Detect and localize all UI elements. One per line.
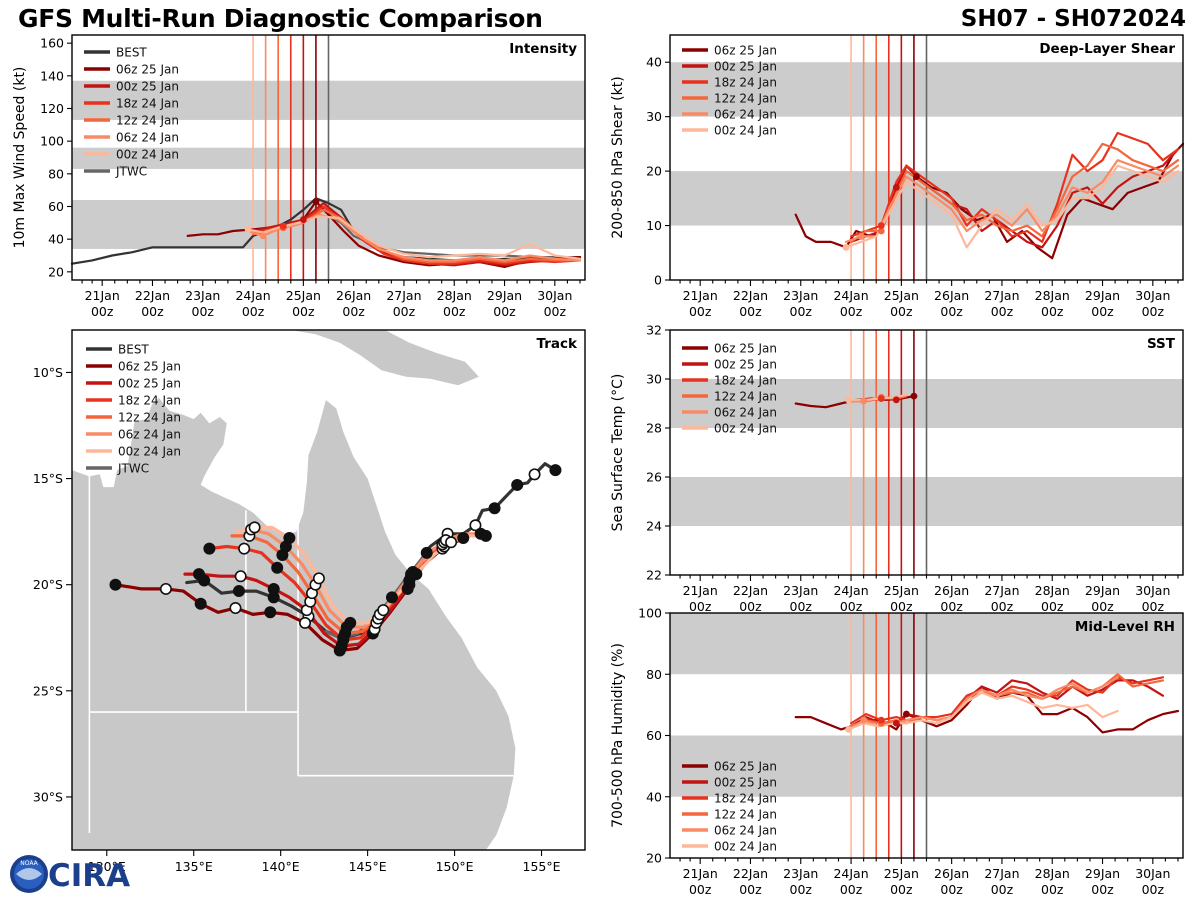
legend-label: 00z 24 Jan bbox=[714, 421, 777, 435]
panel-title: Intensity bbox=[509, 41, 577, 57]
x-tick-label: 27Jan bbox=[984, 866, 1019, 881]
y-tick-label: 10 bbox=[646, 218, 662, 233]
x-tick-sublabel: 00z bbox=[1142, 599, 1165, 614]
track-marker-filled bbox=[489, 503, 499, 513]
x-tick-label: 30Jan bbox=[1135, 583, 1170, 598]
x-tick-label: 21Jan bbox=[85, 288, 120, 303]
x-tick-label: 24Jan bbox=[235, 288, 270, 303]
y-axis-title: 200-850 hPa Shear (kt) bbox=[610, 76, 626, 238]
x-tick-sublabel: 00z bbox=[1142, 304, 1165, 319]
legend-label: 18z 24 Jan bbox=[714, 75, 777, 89]
legend-label: BEST bbox=[118, 342, 149, 356]
track-marker-open bbox=[378, 605, 388, 615]
x-tick-sublabel: 00z bbox=[1041, 599, 1064, 614]
init-marker bbox=[845, 396, 852, 403]
x-tick-label: 28Jan bbox=[1035, 288, 1070, 303]
x-tick-sublabel: 00z bbox=[1142, 882, 1165, 897]
x-tick-label: 27Jan bbox=[386, 288, 421, 303]
y-axis-title: 700-500 hPa Humidity (%) bbox=[610, 643, 626, 828]
track-marker-open bbox=[300, 618, 310, 628]
x-tick-sublabel: 00z bbox=[840, 599, 863, 614]
panel-rh: 2040608010021Jan00z22Jan00z23Jan00z24Jan… bbox=[610, 606, 1183, 898]
init-marker bbox=[860, 398, 867, 405]
track-marker-open bbox=[239, 543, 249, 553]
init-marker bbox=[893, 184, 900, 191]
lat-tick-label: 30°S bbox=[33, 789, 63, 804]
legend-label: BEST bbox=[116, 45, 147, 59]
legend-label: 18z 24 Jan bbox=[714, 791, 777, 805]
x-tick-label: 26Jan bbox=[934, 866, 969, 881]
x-tick-label: 21Jan bbox=[683, 583, 718, 598]
track-marker-open bbox=[529, 469, 539, 479]
x-tick-label: 25Jan bbox=[286, 288, 321, 303]
x-tick-label: 30Jan bbox=[1135, 288, 1170, 303]
legend-label: 12z 24 Jan bbox=[118, 410, 181, 424]
x-tick-label: 28Jan bbox=[1035, 866, 1070, 881]
y-tick-label: 20 bbox=[646, 164, 662, 179]
legend-label: 06z 24 Jan bbox=[714, 107, 777, 121]
init-marker bbox=[911, 393, 918, 400]
y-axis-title: 10m Max Wind Speed (kt) bbox=[12, 67, 28, 249]
x-tick-sublabel: 00z bbox=[1041, 882, 1064, 897]
x-tick-sublabel: 00z bbox=[739, 304, 762, 319]
panel-title: SST bbox=[1147, 336, 1176, 352]
legend-label: 18z 24 Jan bbox=[118, 393, 181, 407]
panel-track: 10°S15°S20°S25°S30°S130°E135°E140°E145°E… bbox=[33, 330, 585, 900]
lat-tick-label: 10°S bbox=[33, 365, 63, 380]
x-tick-label: 21Jan bbox=[683, 866, 718, 881]
y-tick-label: 30 bbox=[646, 109, 662, 124]
x-tick-sublabel: 00z bbox=[790, 304, 813, 319]
init-marker bbox=[903, 711, 910, 718]
legend-label: 00z 25 Jan bbox=[118, 376, 181, 390]
x-tick-sublabel: 00z bbox=[242, 304, 265, 319]
init-marker bbox=[245, 226, 252, 233]
x-tick-label: 30Jan bbox=[1135, 866, 1170, 881]
legend-label: 18z 24 Jan bbox=[116, 96, 179, 110]
track-marker-filled bbox=[269, 584, 279, 594]
x-tick-sublabel: 00z bbox=[1091, 882, 1114, 897]
x-tick-sublabel: 00z bbox=[840, 304, 863, 319]
init-marker bbox=[858, 233, 865, 240]
track-marker-filled bbox=[265, 607, 275, 617]
legend-label: 00z 25 Jan bbox=[714, 775, 777, 789]
lon-tick-label: 135°E bbox=[175, 859, 213, 874]
x-tick-label: 23Jan bbox=[783, 583, 818, 598]
x-tick-label: 24Jan bbox=[833, 583, 868, 598]
y-tick-label: 60 bbox=[48, 199, 64, 214]
x-tick-label: 25Jan bbox=[884, 866, 919, 881]
track-marker-filled bbox=[512, 480, 522, 490]
x-tick-sublabel: 00z bbox=[1091, 304, 1114, 319]
x-tick-label: 27Jan bbox=[984, 583, 1019, 598]
lat-tick-label: 25°S bbox=[33, 683, 63, 698]
x-tick-label: 22Jan bbox=[733, 583, 768, 598]
x-tick-label: 22Jan bbox=[733, 866, 768, 881]
init-marker bbox=[260, 233, 267, 240]
x-tick-label: 29Jan bbox=[1085, 288, 1120, 303]
panel-shear: 01020304021Jan00z22Jan00z23Jan00z24Jan00… bbox=[610, 35, 1183, 319]
legend-label: 12z 24 Jan bbox=[116, 113, 179, 127]
y-tick-label: 22 bbox=[646, 568, 662, 583]
init-marker bbox=[300, 216, 307, 223]
x-tick-label: 29Jan bbox=[1085, 583, 1120, 598]
y-tick-label: 40 bbox=[48, 232, 64, 247]
x-tick-sublabel: 00z bbox=[544, 304, 567, 319]
track-marker-filled bbox=[458, 533, 468, 543]
x-tick-label: 23Jan bbox=[783, 866, 818, 881]
x-tick-label: 26Jan bbox=[336, 288, 371, 303]
x-tick-sublabel: 00z bbox=[790, 599, 813, 614]
panel-title: Deep-Layer Shear bbox=[1039, 41, 1175, 57]
y-tick-label: 30 bbox=[646, 372, 662, 387]
x-tick-sublabel: 00z bbox=[940, 882, 963, 897]
x-tick-sublabel: 00z bbox=[940, 304, 963, 319]
legend-label: 06z 25 Jan bbox=[118, 359, 181, 373]
x-tick-sublabel: 00z bbox=[1091, 599, 1114, 614]
panel-title: Mid-Level RH bbox=[1075, 619, 1175, 635]
x-tick-sublabel: 00z bbox=[739, 882, 762, 897]
init-marker bbox=[878, 717, 885, 724]
y-tick-label: 40 bbox=[646, 789, 662, 804]
y-tick-label: 20 bbox=[646, 851, 662, 866]
track-marker-open bbox=[235, 571, 245, 581]
x-tick-sublabel: 00z bbox=[689, 599, 712, 614]
x-tick-sublabel: 00z bbox=[790, 882, 813, 897]
init-marker bbox=[913, 173, 920, 180]
legend-label: 18z 24 Jan bbox=[714, 373, 777, 387]
track-marker-filled bbox=[195, 599, 205, 609]
track-marker-filled bbox=[284, 533, 294, 543]
diagnostic-figure: 2040608010012014016021Jan00z22Jan00z23Ja… bbox=[0, 0, 1200, 900]
x-tick-sublabel: 00z bbox=[91, 304, 114, 319]
init-marker bbox=[878, 395, 885, 402]
x-tick-sublabel: 00z bbox=[840, 882, 863, 897]
x-tick-sublabel: 00z bbox=[689, 882, 712, 897]
track-marker-filled bbox=[481, 531, 491, 541]
x-tick-label: 23Jan bbox=[783, 288, 818, 303]
x-tick-sublabel: 00z bbox=[739, 599, 762, 614]
x-tick-sublabel: 00z bbox=[393, 304, 416, 319]
legend-label: 06z 25 Jan bbox=[714, 43, 777, 57]
track-marker-filled bbox=[194, 569, 204, 579]
y-tick-label: 20 bbox=[48, 264, 64, 279]
panel-sst: 22242628303221Jan00z22Jan00z23Jan00z24Ja… bbox=[610, 323, 1183, 615]
x-tick-label: 24Jan bbox=[833, 866, 868, 881]
track-marker-filled bbox=[204, 543, 214, 553]
lat-tick-label: 15°S bbox=[33, 471, 63, 486]
x-tick-label: 29Jan bbox=[1085, 866, 1120, 881]
x-tick-sublabel: 00z bbox=[292, 304, 315, 319]
svg-text:NOAA: NOAA bbox=[20, 860, 38, 867]
x-tick-sublabel: 00z bbox=[141, 304, 164, 319]
legend-label: 06z 24 Jan bbox=[714, 823, 777, 837]
x-tick-label: 27Jan bbox=[984, 288, 1019, 303]
init-marker bbox=[313, 198, 320, 205]
lon-tick-label: 140°E bbox=[262, 859, 300, 874]
x-tick-sublabel: 00z bbox=[890, 599, 913, 614]
track-marker-filled bbox=[234, 586, 244, 596]
legend-label: 12z 24 Jan bbox=[714, 389, 777, 403]
legend-label: 00z 24 Jan bbox=[116, 147, 179, 161]
legend-label: 00z 24 Jan bbox=[714, 123, 777, 137]
legend-label: 12z 24 Jan bbox=[714, 807, 777, 821]
x-tick-label: 22Jan bbox=[733, 288, 768, 303]
y-tick-label: 120 bbox=[40, 101, 64, 116]
cira-logo: NOAA CIRA bbox=[8, 850, 158, 896]
track-marker-open bbox=[161, 584, 171, 594]
track-marker-open bbox=[446, 537, 456, 547]
legend-label: 06z 25 Jan bbox=[116, 62, 179, 76]
x-tick-sublabel: 00z bbox=[991, 599, 1014, 614]
lon-tick-label: 145°E bbox=[349, 859, 387, 874]
init-marker bbox=[860, 717, 867, 724]
x-tick-label: 24Jan bbox=[833, 288, 868, 303]
x-tick-label: 26Jan bbox=[934, 583, 969, 598]
y-tick-label: 80 bbox=[646, 667, 662, 682]
init-marker bbox=[843, 244, 850, 251]
x-tick-sublabel: 00z bbox=[1041, 304, 1064, 319]
x-tick-sublabel: 00z bbox=[443, 304, 466, 319]
y-tick-label: 28 bbox=[646, 421, 662, 436]
x-tick-sublabel: 00z bbox=[991, 882, 1014, 897]
track-marker-filled bbox=[387, 592, 397, 602]
y-tick-label: 32 bbox=[646, 323, 662, 338]
legend-label: 00z 25 Jan bbox=[714, 59, 777, 73]
y-tick-label: 24 bbox=[646, 519, 662, 534]
x-tick-label: 25Jan bbox=[884, 288, 919, 303]
legend-label: 00z 24 Jan bbox=[714, 839, 777, 853]
legend-label: 12z 24 Jan bbox=[714, 91, 777, 105]
legend-label: 06z 24 Jan bbox=[714, 405, 777, 419]
x-tick-sublabel: 00z bbox=[493, 304, 516, 319]
y-axis-title: Sea Surface Temp (°C) bbox=[610, 374, 626, 532]
track-marker-open bbox=[249, 522, 259, 532]
legend-label: 00z 25 Jan bbox=[116, 79, 179, 93]
x-tick-label: 25Jan bbox=[884, 583, 919, 598]
svg-text:CIRA: CIRA bbox=[48, 858, 130, 894]
track-marker-open bbox=[230, 603, 240, 613]
panel-title: Track bbox=[537, 336, 578, 352]
lon-tick-label: 155°E bbox=[523, 859, 561, 874]
x-tick-label: 21Jan bbox=[683, 288, 718, 303]
legend-label: 06z 24 Jan bbox=[116, 130, 179, 144]
track-marker-open bbox=[314, 573, 324, 583]
x-tick-label: 23Jan bbox=[185, 288, 220, 303]
y-tick-label: 100 bbox=[638, 606, 662, 621]
y-tick-label: 26 bbox=[646, 470, 662, 485]
legend-label: 06z 25 Jan bbox=[714, 759, 777, 773]
init-marker bbox=[878, 222, 885, 229]
x-tick-sublabel: 00z bbox=[192, 304, 215, 319]
legend-label: 00z 25 Jan bbox=[714, 357, 777, 371]
y-tick-label: 140 bbox=[40, 68, 64, 83]
y-tick-label: 160 bbox=[40, 36, 64, 51]
x-tick-label: 29Jan bbox=[487, 288, 522, 303]
x-tick-sublabel: 00z bbox=[890, 304, 913, 319]
panel-intensity: 2040608010012014016021Jan00z22Jan00z23Ja… bbox=[12, 35, 585, 319]
x-tick-sublabel: 00z bbox=[689, 304, 712, 319]
x-tick-sublabel: 00z bbox=[991, 304, 1014, 319]
lon-tick-label: 150°E bbox=[436, 859, 474, 874]
x-tick-sublabel: 00z bbox=[342, 304, 365, 319]
x-tick-label: 28Jan bbox=[1035, 583, 1070, 598]
y-tick-label: 0 bbox=[654, 273, 662, 288]
legend-label: JTWC bbox=[115, 164, 147, 178]
track-marker-filled bbox=[110, 579, 120, 589]
y-tick-label: 40 bbox=[646, 55, 662, 70]
x-tick-sublabel: 00z bbox=[940, 599, 963, 614]
x-tick-label: 30Jan bbox=[537, 288, 572, 303]
track-marker-filled bbox=[345, 618, 355, 628]
y-tick-label: 80 bbox=[48, 166, 64, 181]
x-tick-label: 26Jan bbox=[934, 288, 969, 303]
track-marker-filled bbox=[272, 563, 282, 573]
track-marker-filled bbox=[411, 569, 421, 579]
legend-label: 06z 25 Jan bbox=[714, 341, 777, 355]
init-marker bbox=[893, 720, 900, 727]
y-tick-label: 100 bbox=[40, 134, 64, 149]
track-marker-filled bbox=[422, 548, 432, 558]
legend-label: JTWC bbox=[117, 461, 149, 475]
x-tick-sublabel: 00z bbox=[890, 882, 913, 897]
x-tick-label: 22Jan bbox=[135, 288, 170, 303]
legend-label: 00z 24 Jan bbox=[118, 444, 181, 458]
init-marker bbox=[893, 396, 900, 403]
track-marker-filled bbox=[550, 465, 560, 475]
y-tick-label: 60 bbox=[646, 728, 662, 743]
x-tick-label: 28Jan bbox=[437, 288, 472, 303]
init-marker bbox=[845, 726, 852, 733]
legend-label: 06z 24 Jan bbox=[118, 427, 181, 441]
init-marker bbox=[280, 223, 287, 230]
lat-tick-label: 20°S bbox=[33, 577, 63, 592]
